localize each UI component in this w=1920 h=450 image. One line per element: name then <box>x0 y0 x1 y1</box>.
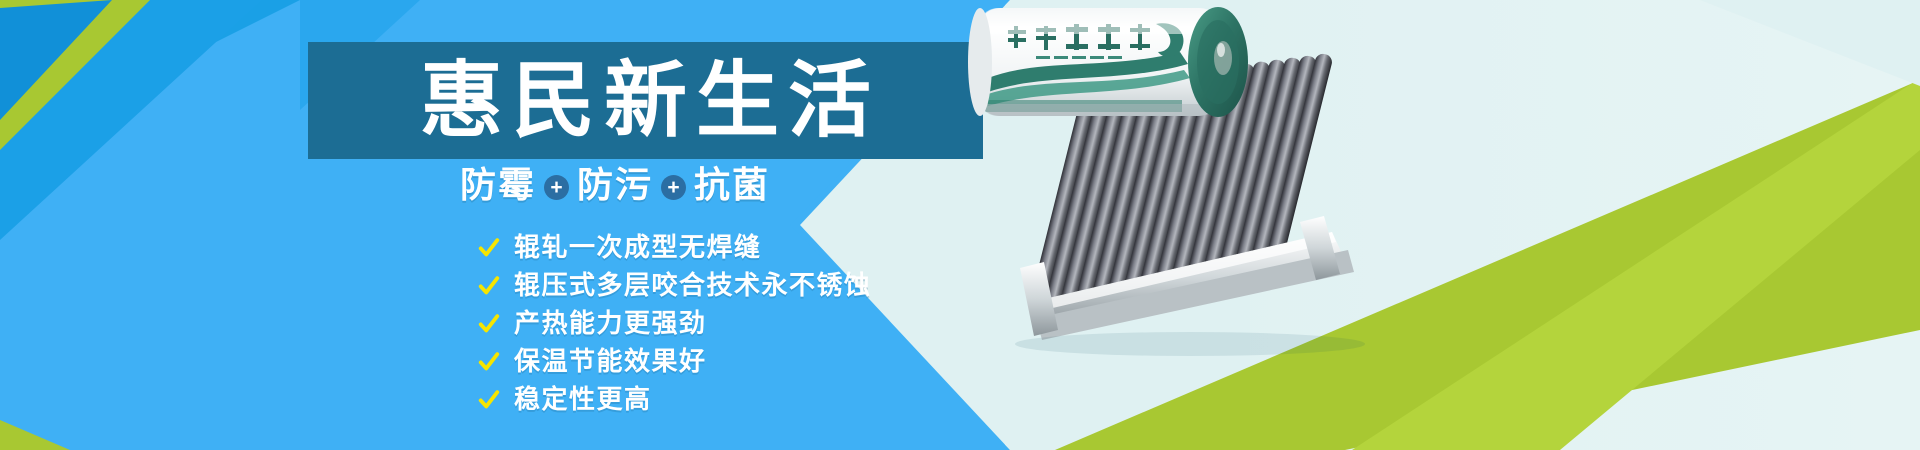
subtitle-word-1: 防霉 <box>460 168 536 204</box>
feature-text: 产热能力更强劲 <box>514 311 707 337</box>
subtitle-word-3: 抗菌 <box>694 168 770 204</box>
subtitle-word-2: 防污 <box>577 168 653 204</box>
headline-box: 惠民新生活 <box>308 42 983 159</box>
check-icon <box>478 237 500 259</box>
feature-text: 稳定性更高 <box>514 387 652 413</box>
product-image <box>940 0 1460 450</box>
list-item: 辊轧一次成型无焊缝 <box>478 232 872 263</box>
check-icon <box>478 351 500 373</box>
check-icon <box>478 313 500 335</box>
plus-badge-icon-2: + <box>661 175 686 200</box>
list-item: 产热能力更强劲 <box>478 308 872 339</box>
check-icon <box>478 275 500 297</box>
feature-text: 辊压式多层咬合技术永不锈蚀 <box>514 273 872 299</box>
plus-badge-icon-1: + <box>544 175 569 200</box>
subtitle-row: 防霉 + 防污 + 抗菌 <box>460 168 880 204</box>
water-tank <box>968 7 1248 117</box>
promo-banner: 惠民新生活 防霉 + 防污 + 抗菌 辊轧一次成型无焊缝 辊压式多层咬合技术永不… <box>0 0 1920 450</box>
feature-text: 保温节能效果好 <box>514 349 707 375</box>
feature-list: 辊轧一次成型无焊缝 辊压式多层咬合技术永不锈蚀 产热能力更强劲 保温节能效果好 <box>478 232 872 415</box>
feature-text: 辊轧一次成型无焊缝 <box>514 235 762 261</box>
content-column: 惠民新生活 防霉 + 防污 + 抗菌 辊轧一次成型无焊缝 辊压式多层咬合技术永不… <box>0 0 1000 450</box>
solar-water-heater-illustration <box>940 0 1460 450</box>
check-icon <box>478 389 500 411</box>
page-title: 惠民新生活 <box>411 59 880 142</box>
list-item: 辊压式多层咬合技术永不锈蚀 <box>478 270 872 301</box>
list-item: 保温节能效果好 <box>478 346 872 377</box>
list-item: 稳定性更高 <box>478 384 872 415</box>
